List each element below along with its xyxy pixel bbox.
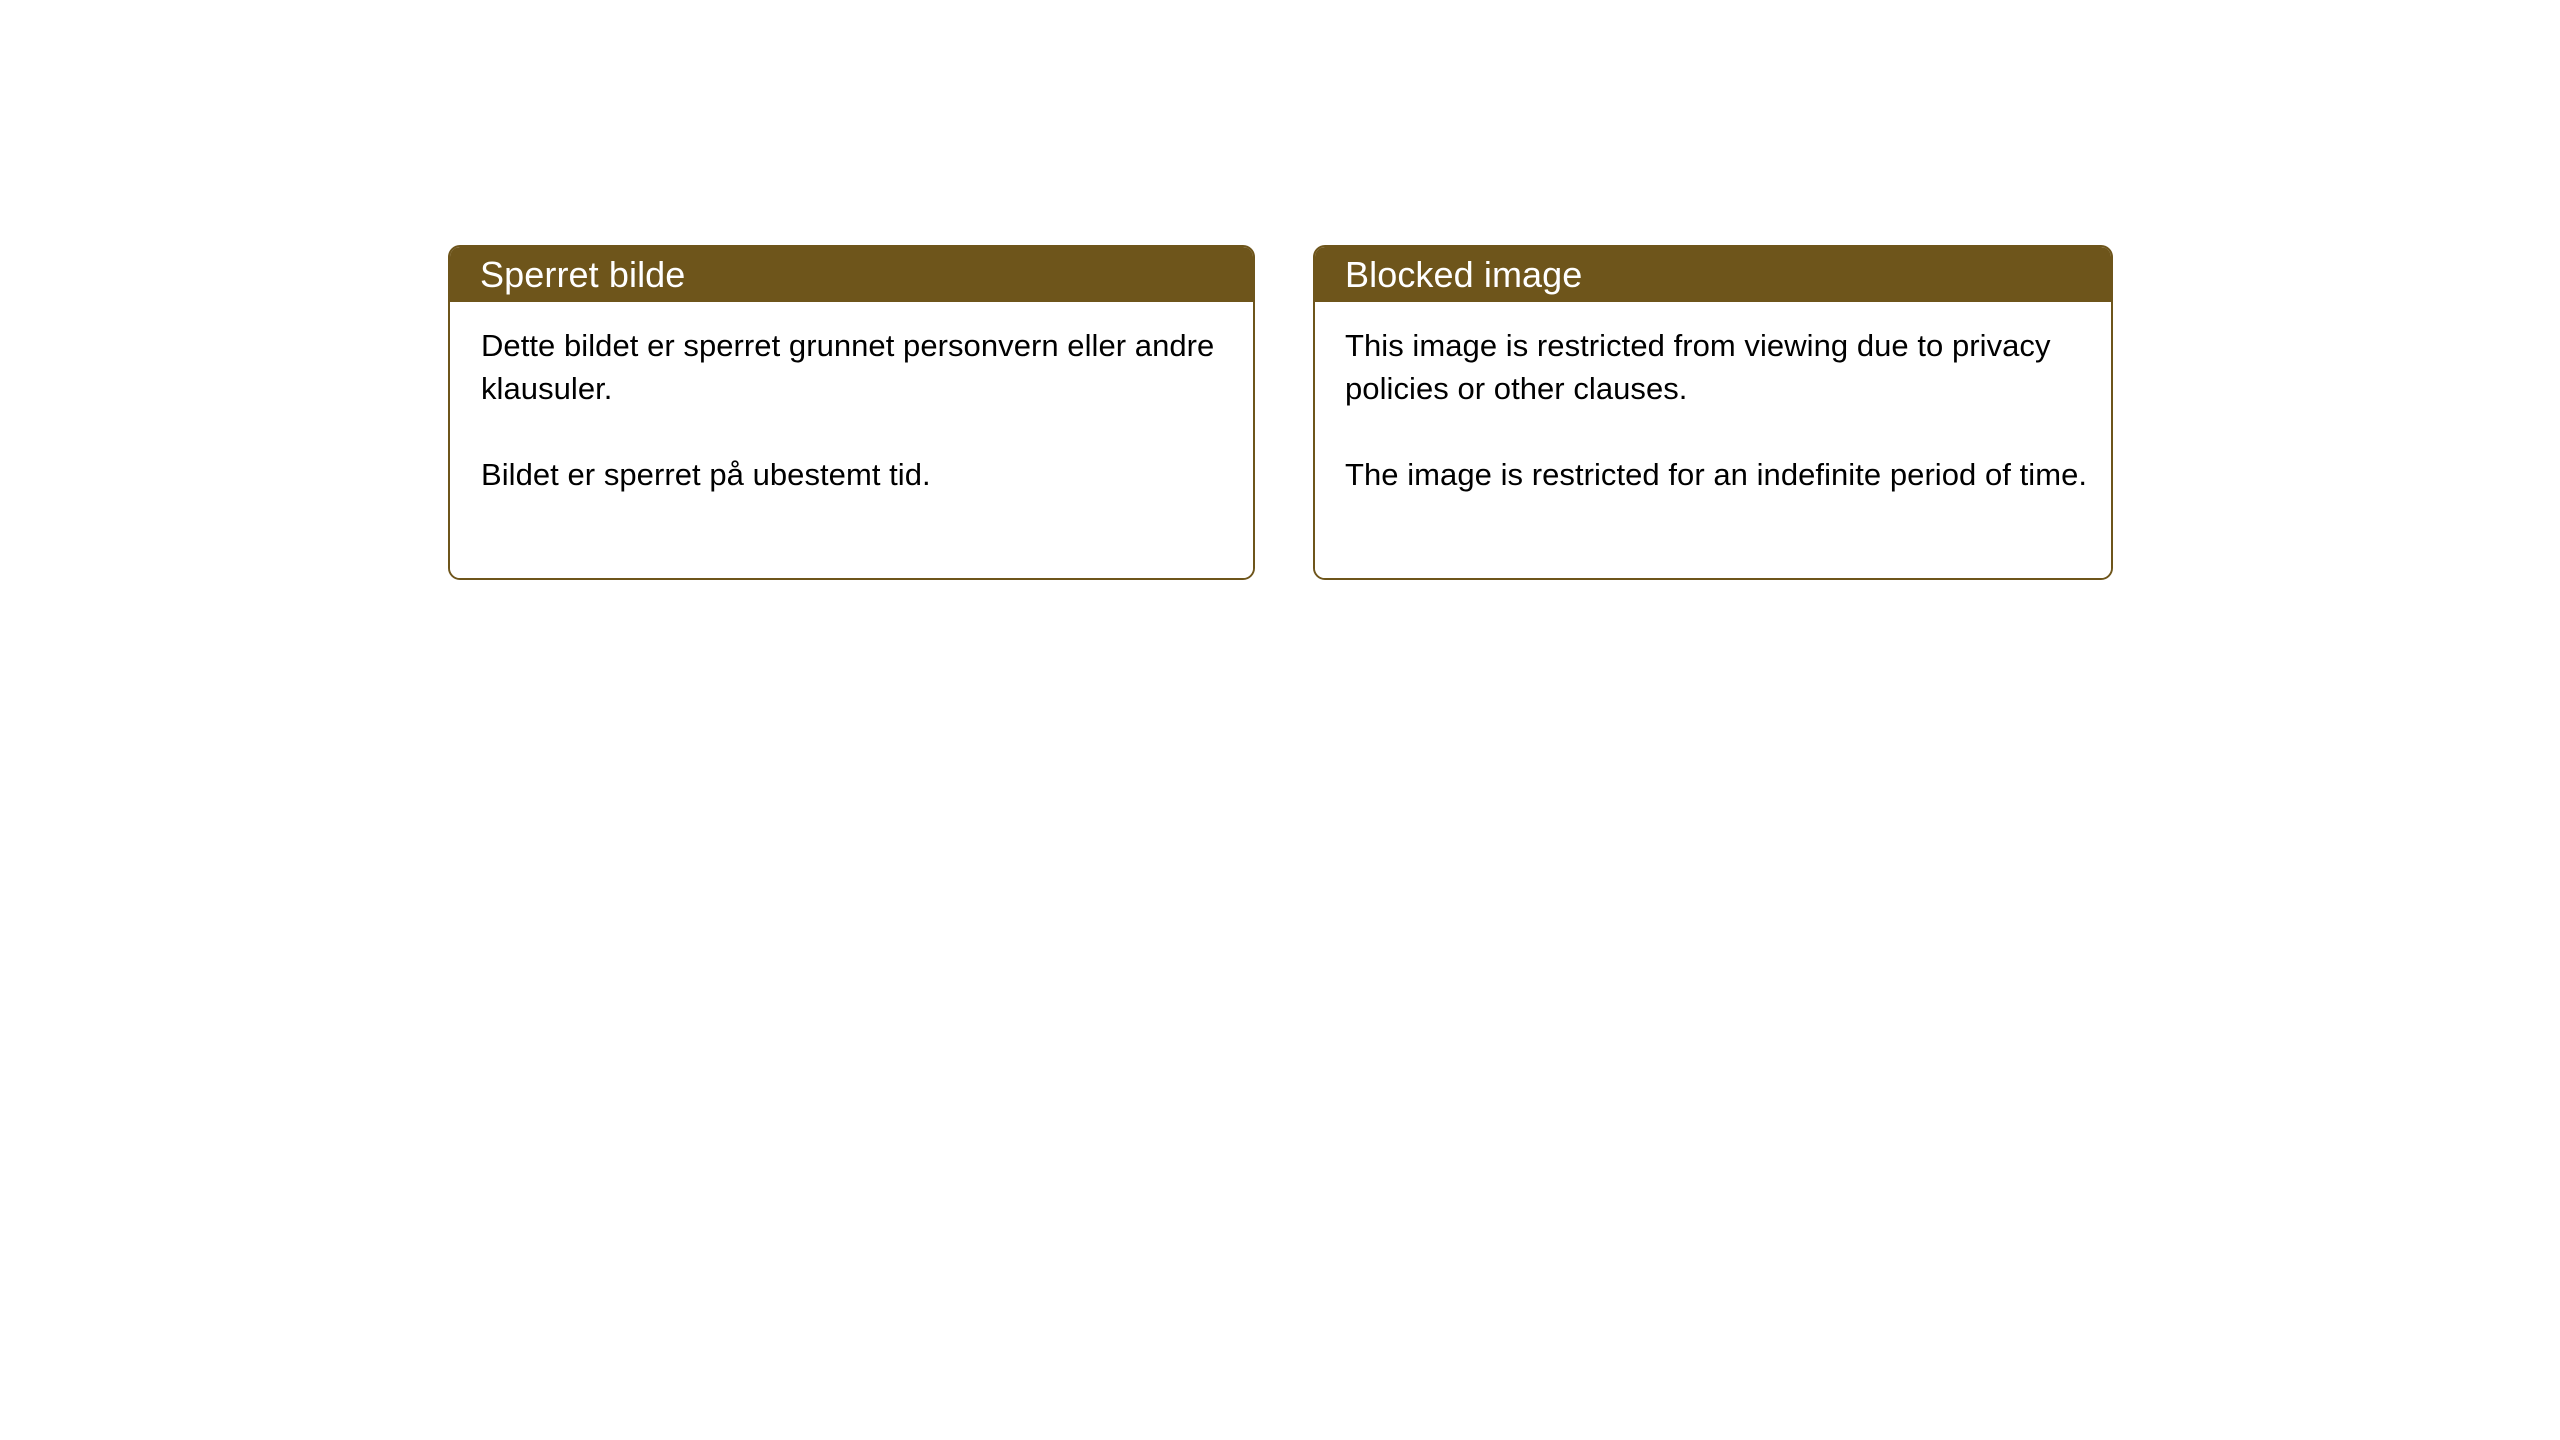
blocked-image-card-english: Blocked image This image is restricted f… xyxy=(1313,245,2113,580)
card-header-english: Blocked image xyxy=(1315,247,2111,302)
blocked-image-card-norwegian: Sperret bilde Dette bildet er sperret gr… xyxy=(448,245,1255,580)
blocked-image-notice-area: Sperret bilde Dette bildet er sperret gr… xyxy=(448,245,2113,580)
card-title-english: Blocked image xyxy=(1345,257,1582,293)
card-body-norwegian: Dette bildet er sperret grunnet personve… xyxy=(450,302,1253,578)
card-header-norwegian: Sperret bilde xyxy=(450,247,1253,302)
card-paragraph-primary-english: This image is restricted from viewing du… xyxy=(1345,324,2091,410)
card-paragraph-secondary-norwegian: Bildet er sperret på ubestemt tid. xyxy=(481,453,1227,496)
card-paragraph-primary-norwegian: Dette bildet er sperret grunnet personve… xyxy=(481,324,1227,410)
card-paragraph-secondary-english: The image is restricted for an indefinit… xyxy=(1345,453,2091,496)
card-body-english: This image is restricted from viewing du… xyxy=(1315,302,2111,578)
card-title-norwegian: Sperret bilde xyxy=(480,257,685,293)
